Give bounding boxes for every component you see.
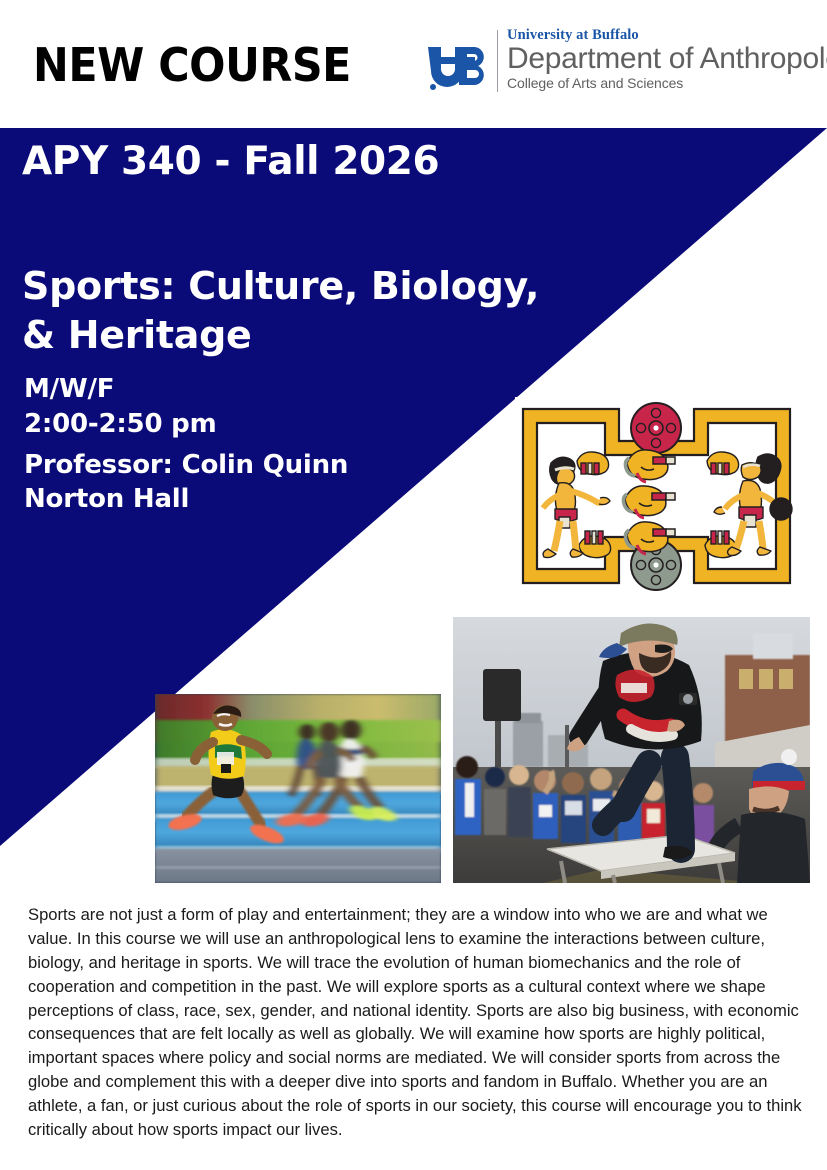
logo-department-name: Department of Anthropology xyxy=(507,44,827,75)
new-course-banner-label: NEW COURSE xyxy=(33,38,351,92)
course-meeting-time: 2:00-2:50 pm xyxy=(24,407,444,442)
logo-divider xyxy=(497,30,498,92)
ub-department-logo: University at Buffalo Department of Anth… xyxy=(425,28,797,100)
course-description: Sports are not just a form of play and e… xyxy=(28,903,808,1142)
course-flyer: NEW COURSE xyxy=(0,0,827,1170)
course-meeting-days: M/W/F xyxy=(24,372,444,407)
course-code-and-term: APY 340 - Fall 2026 xyxy=(22,139,439,184)
ub-logo-mark-icon xyxy=(425,41,491,95)
olympic-sprinters-photo xyxy=(155,694,441,883)
buffalo-bills-fans-table-smash-photo xyxy=(453,617,810,883)
course-title-line-1: Sports: Culture, Biology, xyxy=(22,262,602,311)
logo-university-name: University at Buffalo xyxy=(507,28,827,43)
course-location: Norton Hall xyxy=(24,482,444,517)
course-details-block: M/W/F 2:00-2:50 pm Professor: Colin Quin… xyxy=(24,372,444,517)
flyer-header: NEW COURSE xyxy=(0,0,827,128)
mesoamerican-ballcourt-illustration xyxy=(515,397,798,595)
course-instructor: Professor: Colin Quinn xyxy=(24,448,444,483)
logo-wordmark: University at Buffalo Department of Anth… xyxy=(507,28,827,91)
course-title-line-2: & Heritage xyxy=(22,311,602,360)
logo-college-name: College of Arts and Sciences xyxy=(507,76,827,91)
course-title: Sports: Culture, Biology, & Heritage xyxy=(22,262,602,359)
